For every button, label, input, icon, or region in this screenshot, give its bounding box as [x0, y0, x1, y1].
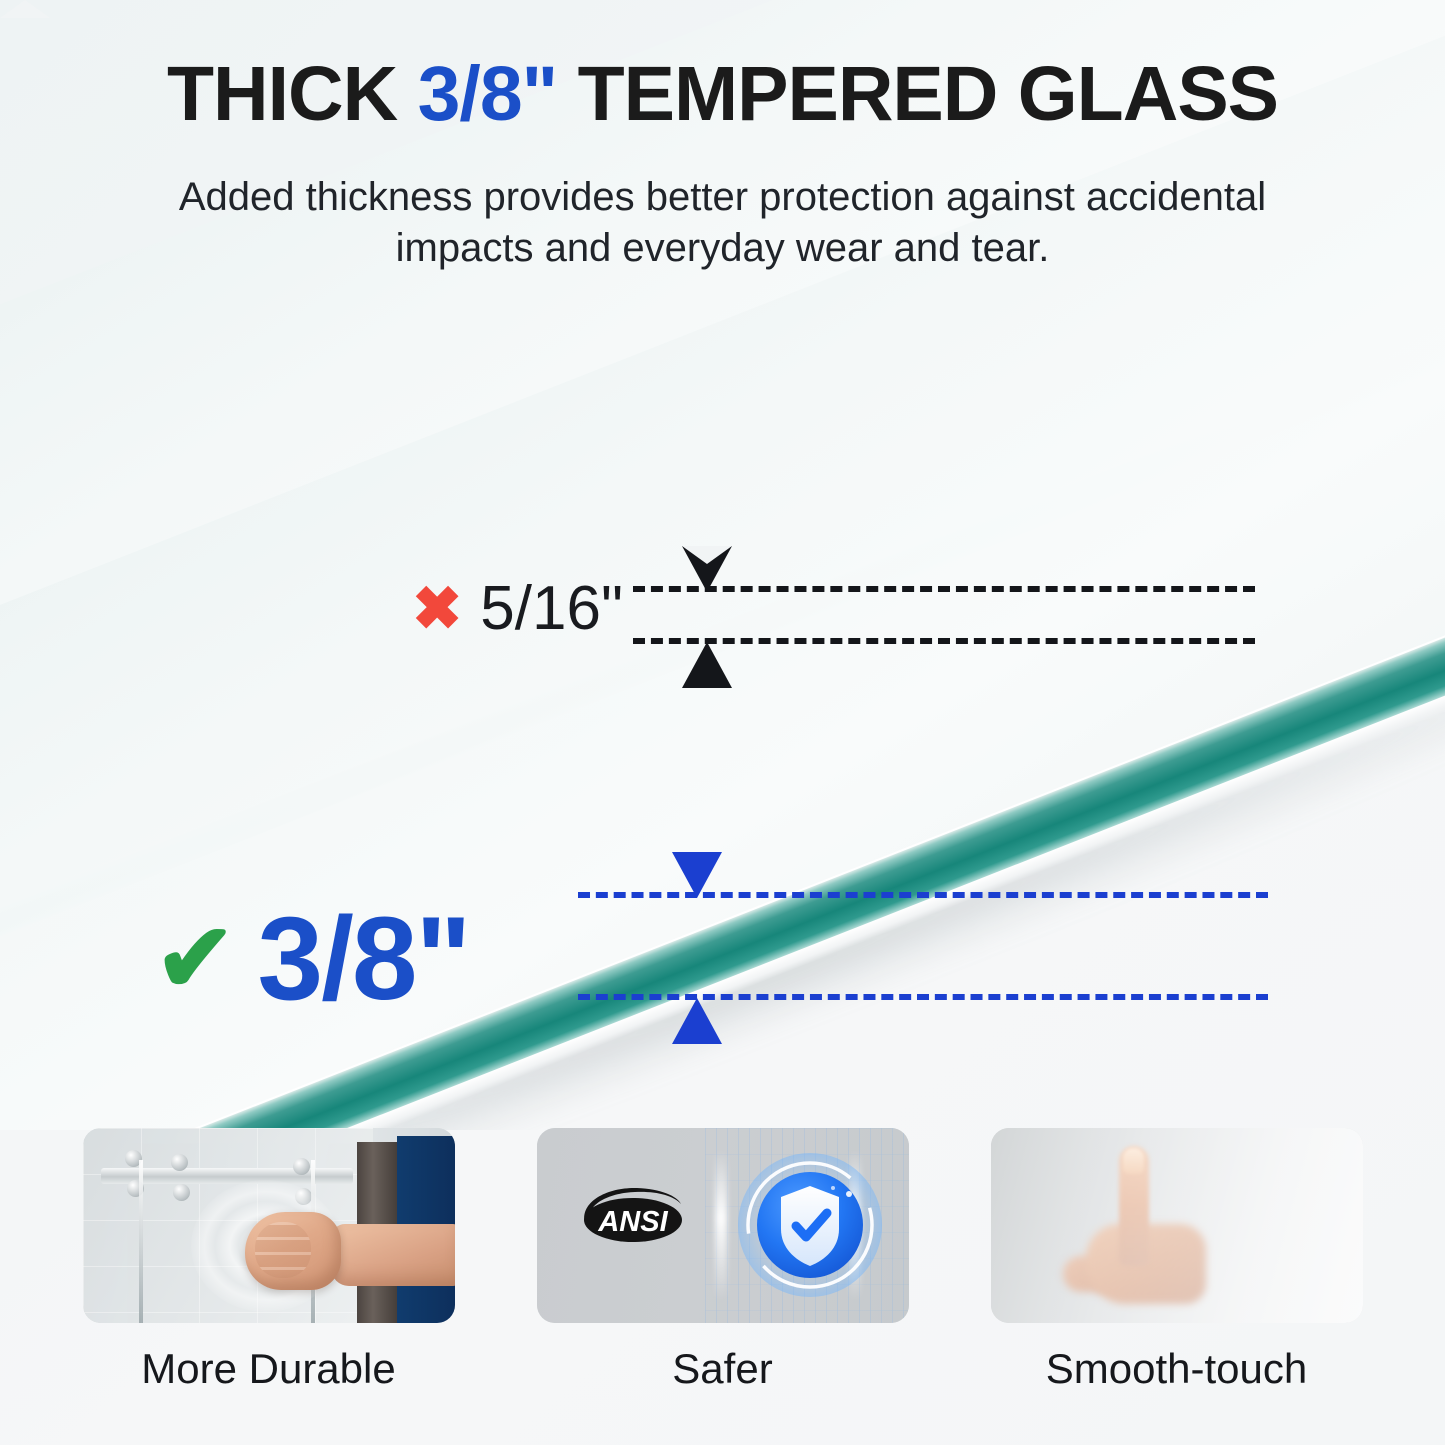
frosted-glass-touch-scene: [991, 1128, 1363, 1323]
forearm: [331, 1224, 455, 1286]
fist-icon: [245, 1212, 341, 1290]
arrow-up-notch-thin: [0, 0, 50, 18]
feature-thumb-smooth: [991, 1128, 1363, 1323]
headline-accent: 3/8": [418, 51, 558, 137]
ansi-logo-icon: ANSI: [577, 1184, 687, 1246]
dimension-thin-glass: [0, 0, 50, 18]
security-shield-icon: [735, 1150, 885, 1300]
callout-thick-glass: ✔3/8": [155, 900, 469, 1018]
roller-icon-2: [171, 1154, 188, 1171]
feature-card-safer[interactable]: ANSI: [537, 1128, 909, 1445]
arrow-down-icon-thick: [672, 852, 722, 898]
safety-certification-scene: ANSI: [537, 1128, 909, 1323]
callout-thick-label: 3/8": [257, 900, 469, 1018]
roller-icon-3: [293, 1158, 310, 1175]
page-subtitle: Added thickness provides better protecti…: [108, 172, 1338, 274]
feature-label-safer: Safer: [537, 1345, 909, 1393]
arrow-up-icon-thick: [672, 998, 722, 1044]
feature-card-durable[interactable]: More Durable: [83, 1128, 455, 1445]
feature-thumb-durable: [83, 1128, 455, 1323]
shower-door-scene: [83, 1128, 455, 1323]
feature-card-row: More Durable ANSI: [0, 1128, 1445, 1445]
headline-prefix: THICK: [167, 51, 418, 137]
x-mark-icon: ✖: [412, 579, 462, 639]
glow-bar-left: [715, 1150, 727, 1300]
feature-label-durable: More Durable: [83, 1345, 455, 1393]
roller-icon-5: [173, 1184, 190, 1201]
feature-card-smooth[interactable]: Smooth-touch: [991, 1128, 1363, 1445]
product-feature-poster: THICK 3/8" TEMPERED GLASS Added thicknes…: [0, 0, 1445, 1445]
headline-suffix: TEMPERED GLASS: [557, 51, 1278, 137]
arrow-up-icon-thin: [682, 642, 732, 688]
ansi-logo-text: ANSI: [597, 1206, 668, 1238]
frosted-overlay: [991, 1128, 1363, 1323]
callout-thin-label: 5/16": [480, 578, 623, 640]
page-title: THICK 3/8" TEMPERED GLASS: [0, 50, 1445, 139]
arrow-down-notch-thin: [682, 546, 732, 564]
feature-thumb-safer: ANSI: [537, 1128, 909, 1323]
feature-label-smooth: Smooth-touch: [991, 1345, 1363, 1393]
check-mark-icon: ✔: [155, 911, 235, 1007]
callout-thin-glass: ✖5/16": [412, 578, 623, 640]
door-edge-left: [139, 1160, 143, 1323]
